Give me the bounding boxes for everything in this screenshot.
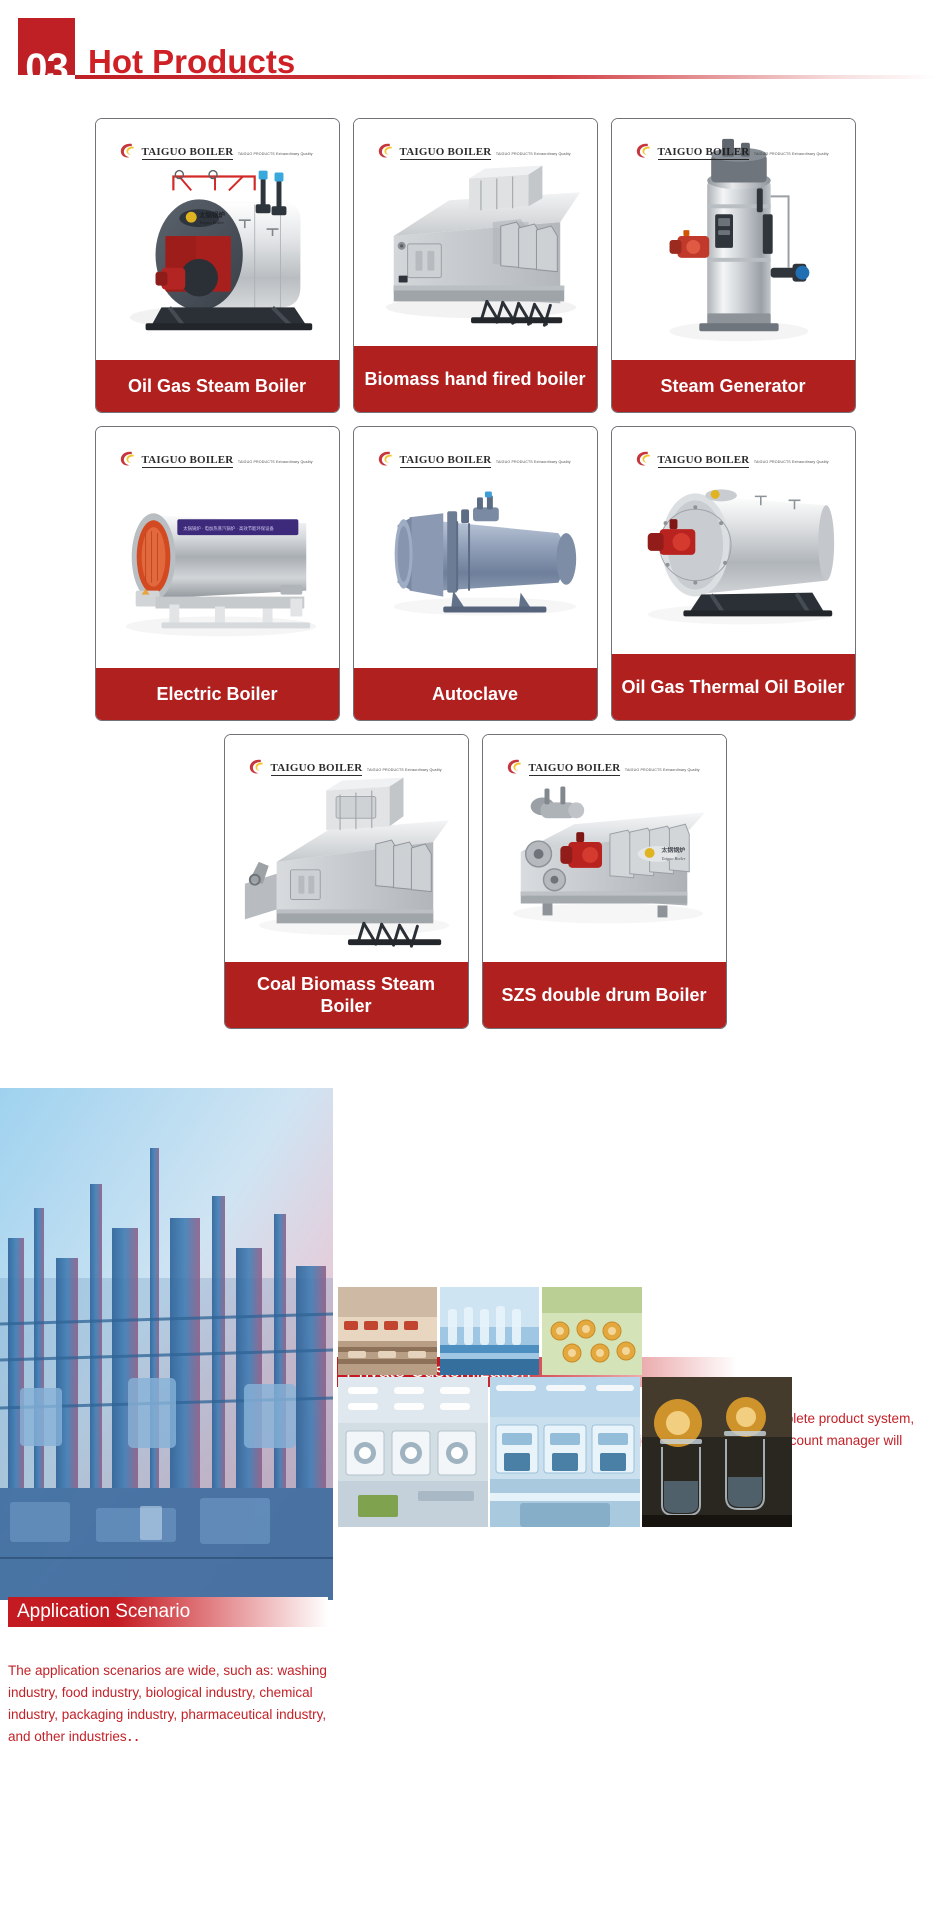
svg-text:太锅锅炉: 太锅锅炉 — [199, 210, 225, 219]
taiguo-flame-logo-icon — [505, 757, 524, 776]
svg-text:太锅锅炉 · 电加热蒸汽锅炉 · 高效节能环保设备: 太锅锅炉 · 电加热蒸汽锅炉 · 高效节能环保设备 — [183, 525, 274, 532]
brand-watermark: TAIGUO BOILER TAIGUO PRODUCTS Extraordin… — [376, 141, 571, 160]
taiguo-flame-logo-icon — [118, 449, 137, 468]
product-label: Oil Gas Steam Boiler — [96, 360, 339, 412]
product-card-biomass-hand-fired-boiler[interactable]: TAIGUO BOILER TAIGUO PRODUCTS Extraordin… — [353, 118, 598, 413]
watermark-brand: TAIGUO BOILER — [400, 454, 492, 468]
brand-watermark: TAIGUO BOILER TAIGUO PRODUCTS Extraordin… — [118, 141, 313, 160]
application-photo-pharma-cleanroom — [490, 1377, 640, 1527]
product-image-szs-double-drum-boiler: 太锅锅炉 Taiguo Boiler — [483, 735, 726, 962]
hot-products-page: 03 Hot Products — [0, 0, 950, 1918]
taiguo-flame-logo-icon — [634, 141, 653, 160]
watermark-text: TAIGUO BOILER TAIGUO PRODUCTS Extraordin… — [142, 451, 313, 467]
watermark-brand: TAIGUO BOILER — [400, 146, 492, 160]
watermark-brand: TAIGUO BOILER — [142, 146, 234, 160]
application-scenario-body: The application scenarios are wide, such… — [8, 1660, 333, 1748]
watermark-brand: TAIGUO BOILER — [658, 454, 750, 468]
application-photo-chemical-lab — [642, 1377, 792, 1527]
brand-watermark: TAIGUO BOILER TAIGUO PRODUCTS Extraordin… — [634, 449, 829, 468]
watermark-tagline: TAIGUO PRODUCTS Extraordinary Quality — [238, 460, 313, 464]
watermark-tagline: TAIGUO PRODUCTS Extraordinary Quality — [754, 460, 829, 464]
brand-watermark: TAIGUO BOILER TAIGUO PRODUCTS Extraordin… — [376, 449, 571, 468]
product-card-oil-gas-steam-boiler[interactable]: 太锅锅炉 Taiguo Boiler — [95, 118, 340, 413]
product-row: TAIGUO BOILER TAIGUO PRODUCTS Extraordin… — [0, 734, 950, 1029]
watermark-text: TAIGUO BOILER TAIGUO PRODUCTS Extraordin… — [271, 759, 442, 775]
watermark-text: TAIGUO BOILER TAIGUO PRODUCTS Extraordin… — [142, 143, 313, 159]
product-label: Electric Boiler — [96, 668, 339, 720]
section-number: 03 — [25, 48, 68, 75]
application-scenario-heading: Application Scenario — [17, 1597, 190, 1627]
application-photo-bottling-line — [440, 1287, 539, 1375]
product-card-autoclave[interactable]: TAIGUO BOILER TAIGUO PRODUCTS Extraordin… — [353, 426, 598, 721]
product-image-autoclave: TAIGUO BOILER TAIGUO PRODUCTS Extraordin… — [354, 427, 597, 668]
product-image-coal-biomass-steam-boiler: TAIGUO BOILER TAIGUO PRODUCTS Extraordin… — [225, 735, 468, 962]
svg-text:太锅锅炉: 太锅锅炉 — [661, 846, 685, 854]
brand-watermark: TAIGUO BOILER TAIGUO PRODUCTS Extraordin… — [505, 757, 700, 776]
product-label: Biomass hand fired boiler — [354, 346, 597, 412]
product-label: SZS double drum Boiler — [483, 962, 726, 1028]
section-number-badge: 03 — [18, 18, 75, 75]
watermark-brand: TAIGUO BOILER — [271, 762, 363, 776]
product-image-oil-gas-steam-boiler: 太锅锅炉 Taiguo Boiler — [96, 119, 339, 360]
refinery-photo — [0, 1088, 333, 1600]
watermark-tagline: TAIGUO PRODUCTS Extraordinary Quality — [238, 152, 313, 156]
brand-watermark: TAIGUO BOILER TAIGUO PRODUCTS Extraordin… — [118, 449, 313, 468]
svg-text:Taiguo Boiler: Taiguo Boiler — [661, 856, 685, 861]
watermark-tagline: TAIGUO PRODUCTS Extraordinary Quality — [496, 460, 571, 464]
product-label: Steam Generator — [612, 360, 855, 412]
product-image-oil-gas-thermal-oil-boiler: TAIGUO BOILER TAIGUO PRODUCTS Extraordin… — [612, 427, 855, 654]
watermark-text: TAIGUO BOILER TAIGUO PRODUCTS Extraordin… — [529, 759, 700, 775]
watermark-tagline: TAIGUO PRODUCTS Extraordinary Quality — [367, 768, 442, 772]
product-image-electric-boiler: 太锅锅炉 · 电加热蒸汽锅炉 · 高效节能环保设备 — [96, 427, 339, 668]
product-card-szs-double-drum-boiler[interactable]: 太锅锅炉 Taiguo Boiler — [482, 734, 727, 1029]
taiguo-flame-logo-icon — [118, 141, 137, 160]
application-photo-bakery-trays — [542, 1287, 642, 1375]
svg-text:Taiguo Boiler: Taiguo Boiler — [199, 220, 224, 225]
taiguo-flame-logo-icon — [247, 757, 266, 776]
product-image-steam-generator: TAIGUO BOILER TAIGUO PRODUCTS Extraordin… — [612, 119, 855, 360]
product-card-steam-generator[interactable]: TAIGUO BOILER TAIGUO PRODUCTS Extraordin… — [611, 118, 856, 413]
brand-watermark: TAIGUO BOILER TAIGUO PRODUCTS Extraordin… — [247, 757, 442, 776]
brand-watermark: TAIGUO BOILER TAIGUO PRODUCTS Extraordin… — [634, 141, 829, 160]
watermark-text: TAIGUO BOILER TAIGUO PRODUCTS Extraordin… — [400, 451, 571, 467]
product-row: 太锅锅炉 Taiguo Boiler — [0, 118, 950, 413]
application-scenario-banner: Application Scenario — [8, 1597, 328, 1627]
product-card-oil-gas-thermal-oil-boiler[interactable]: TAIGUO BOILER TAIGUO PRODUCTS Extraordin… — [611, 426, 856, 721]
header-divider — [75, 75, 937, 79]
application-photo-laundry-facility — [338, 1377, 488, 1527]
watermark-text: TAIGUO BOILER TAIGUO PRODUCTS Extraordin… — [658, 143, 829, 159]
taiguo-flame-logo-icon — [376, 141, 395, 160]
watermark-brand: TAIGUO BOILER — [529, 762, 621, 776]
watermark-text: TAIGUO BOILER TAIGUO PRODUCTS Extraordin… — [400, 143, 571, 159]
product-label: Autoclave — [354, 668, 597, 720]
taiguo-flame-logo-icon — [634, 449, 653, 468]
watermark-brand: TAIGUO BOILER — [658, 146, 750, 160]
product-row: 太锅锅炉 · 电加热蒸汽锅炉 · 高效节能环保设备 — [0, 426, 950, 721]
watermark-tagline: TAIGUO PRODUCTS Extraordinary Quality — [496, 152, 571, 156]
product-image-biomass-hand-fired-boiler: TAIGUO BOILER TAIGUO PRODUCTS Extraordin… — [354, 119, 597, 346]
product-grid: 太锅锅炉 Taiguo Boiler — [0, 118, 950, 1042]
watermark-text: TAIGUO BOILER TAIGUO PRODUCTS Extraordin… — [658, 451, 829, 467]
product-label: Coal Biomass Steam Boiler — [225, 962, 468, 1028]
watermark-tagline: TAIGUO PRODUCTS Extraordinary Quality — [625, 768, 700, 772]
taiguo-flame-logo-icon — [376, 449, 395, 468]
product-card-electric-boiler[interactable]: 太锅锅炉 · 电加热蒸汽锅炉 · 高效节能环保设备 — [95, 426, 340, 721]
product-label: Oil Gas Thermal Oil Boiler — [612, 654, 855, 720]
application-photo-food-line — [338, 1287, 437, 1375]
watermark-brand: TAIGUO BOILER — [142, 454, 234, 468]
watermark-tagline: TAIGUO PRODUCTS Extraordinary Quality — [754, 152, 829, 156]
section-header: 03 Hot Products — [0, 18, 950, 80]
product-card-coal-biomass-steam-boiler[interactable]: TAIGUO BOILER TAIGUO PRODUCTS Extraordin… — [224, 734, 469, 1029]
